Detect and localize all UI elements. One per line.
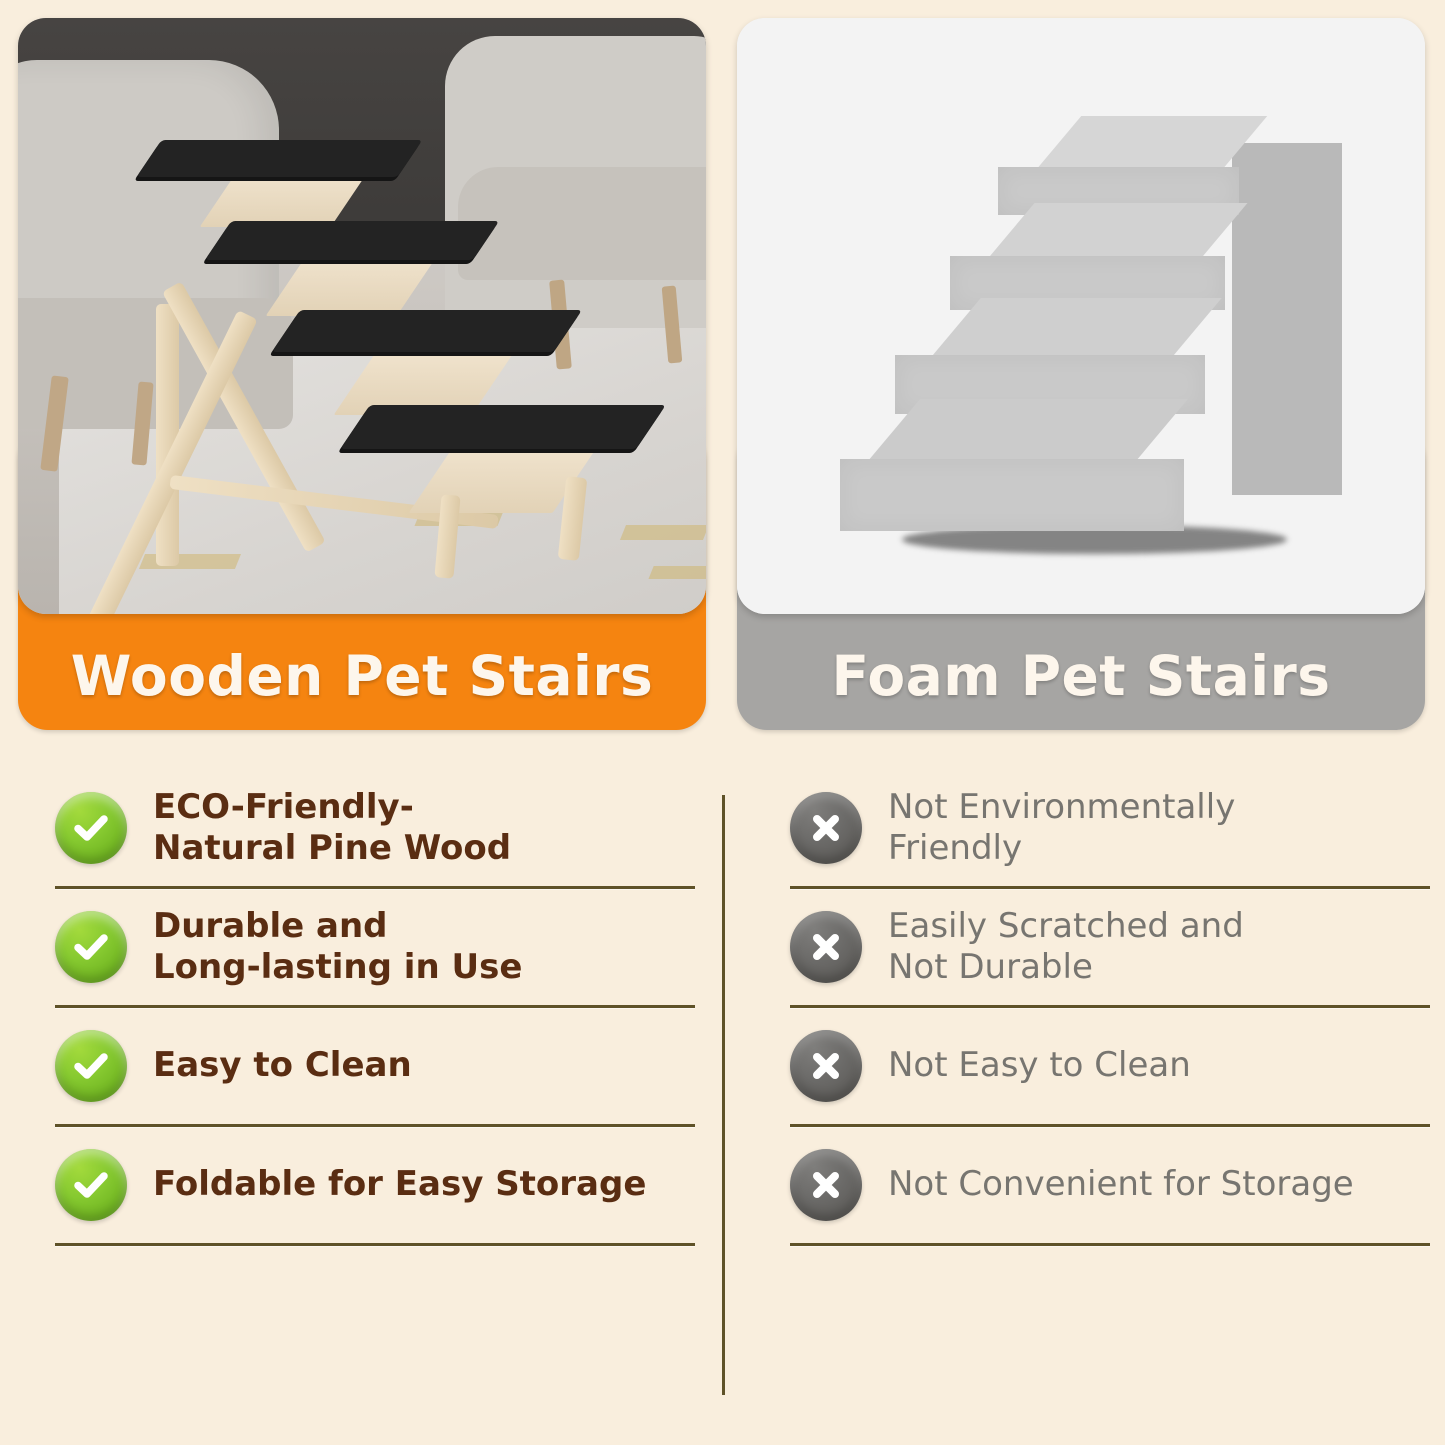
- check-circle-icon: [55, 1030, 127, 1102]
- foam-step-face: [840, 459, 1184, 531]
- cons-item-label: Not Convenient for Storage: [888, 1164, 1354, 1205]
- pros-item-label: Easy to Clean: [153, 1045, 412, 1086]
- stairs-tread: [204, 221, 499, 260]
- stairs-riser: [199, 173, 366, 227]
- column-divider: [722, 795, 725, 1395]
- check-circle-icon: [55, 792, 127, 864]
- stairs-riser: [266, 256, 437, 316]
- wooden-product-title: Wooden Pet Stairs: [18, 644, 706, 708]
- wooden-product-panel[interactable]: Wooden Pet Stairs: [18, 18, 706, 730]
- living-room-scene: [18, 18, 706, 614]
- check-circle-icon: [55, 1149, 127, 1221]
- pros-item-label: ECO-Friendly- Natural Pine Wood: [153, 787, 511, 870]
- x-circle-icon: [790, 1030, 862, 1102]
- foam-step-top: [990, 203, 1248, 257]
- list-separator: [55, 1243, 695, 1246]
- foam-step-top: [870, 399, 1188, 459]
- pros-item-label: Durable and Long-lasting in Use: [153, 906, 522, 989]
- pros-list-item: Durable and Long-lasting in Use: [55, 889, 695, 1005]
- foam-product-title: Foam Pet Stairs: [737, 644, 1425, 708]
- foam-stairs-object: [737, 18, 1425, 614]
- foam-step-top: [933, 298, 1221, 355]
- stairs-tread: [272, 310, 582, 352]
- product-comparison-cards: Wooden Pet Stairs: [0, 0, 1445, 745]
- x-circle-icon: [790, 1149, 862, 1221]
- cons-item-label: Not Easy to Clean: [888, 1045, 1191, 1086]
- stairs-tread: [340, 405, 666, 449]
- pros-item-label: Foldable for Easy Storage: [153, 1164, 646, 1205]
- cons-list-item: Not Environmentally Friendly: [790, 770, 1430, 886]
- wooden-product-photo: [18, 18, 706, 614]
- cons-list-item: Easily Scratched and Not Durable: [790, 889, 1430, 1005]
- cons-item-label: Not Environmentally Friendly: [888, 787, 1235, 870]
- pros-list-item: ECO-Friendly- Natural Pine Wood: [55, 770, 695, 886]
- pros-list-item: Easy to Clean: [55, 1008, 695, 1124]
- cons-column: Not Environmentally Friendly Easily Scra…: [790, 770, 1430, 1246]
- pros-list-item: Foldable for Easy Storage: [55, 1127, 695, 1243]
- feature-comparison-section: ECO-Friendly- Natural Pine Wood Durable …: [0, 770, 1445, 1445]
- cons-list-item: Not Easy to Clean: [790, 1008, 1430, 1124]
- list-separator: [790, 1243, 1430, 1246]
- x-circle-icon: [790, 911, 862, 983]
- cons-list-item: Not Convenient for Storage: [790, 1127, 1430, 1243]
- cons-item-label: Easily Scratched and Not Durable: [888, 906, 1244, 989]
- foam-product-photo: [737, 18, 1425, 614]
- stairs-tread: [136, 140, 422, 177]
- wooden-pet-stairs-object: [18, 18, 706, 614]
- foam-product-panel[interactable]: Foam Pet Stairs: [737, 18, 1425, 730]
- pros-column: ECO-Friendly- Natural Pine Wood Durable …: [55, 770, 695, 1246]
- x-circle-icon: [790, 792, 862, 864]
- foam-right-side: [1232, 143, 1342, 495]
- check-circle-icon: [55, 911, 127, 983]
